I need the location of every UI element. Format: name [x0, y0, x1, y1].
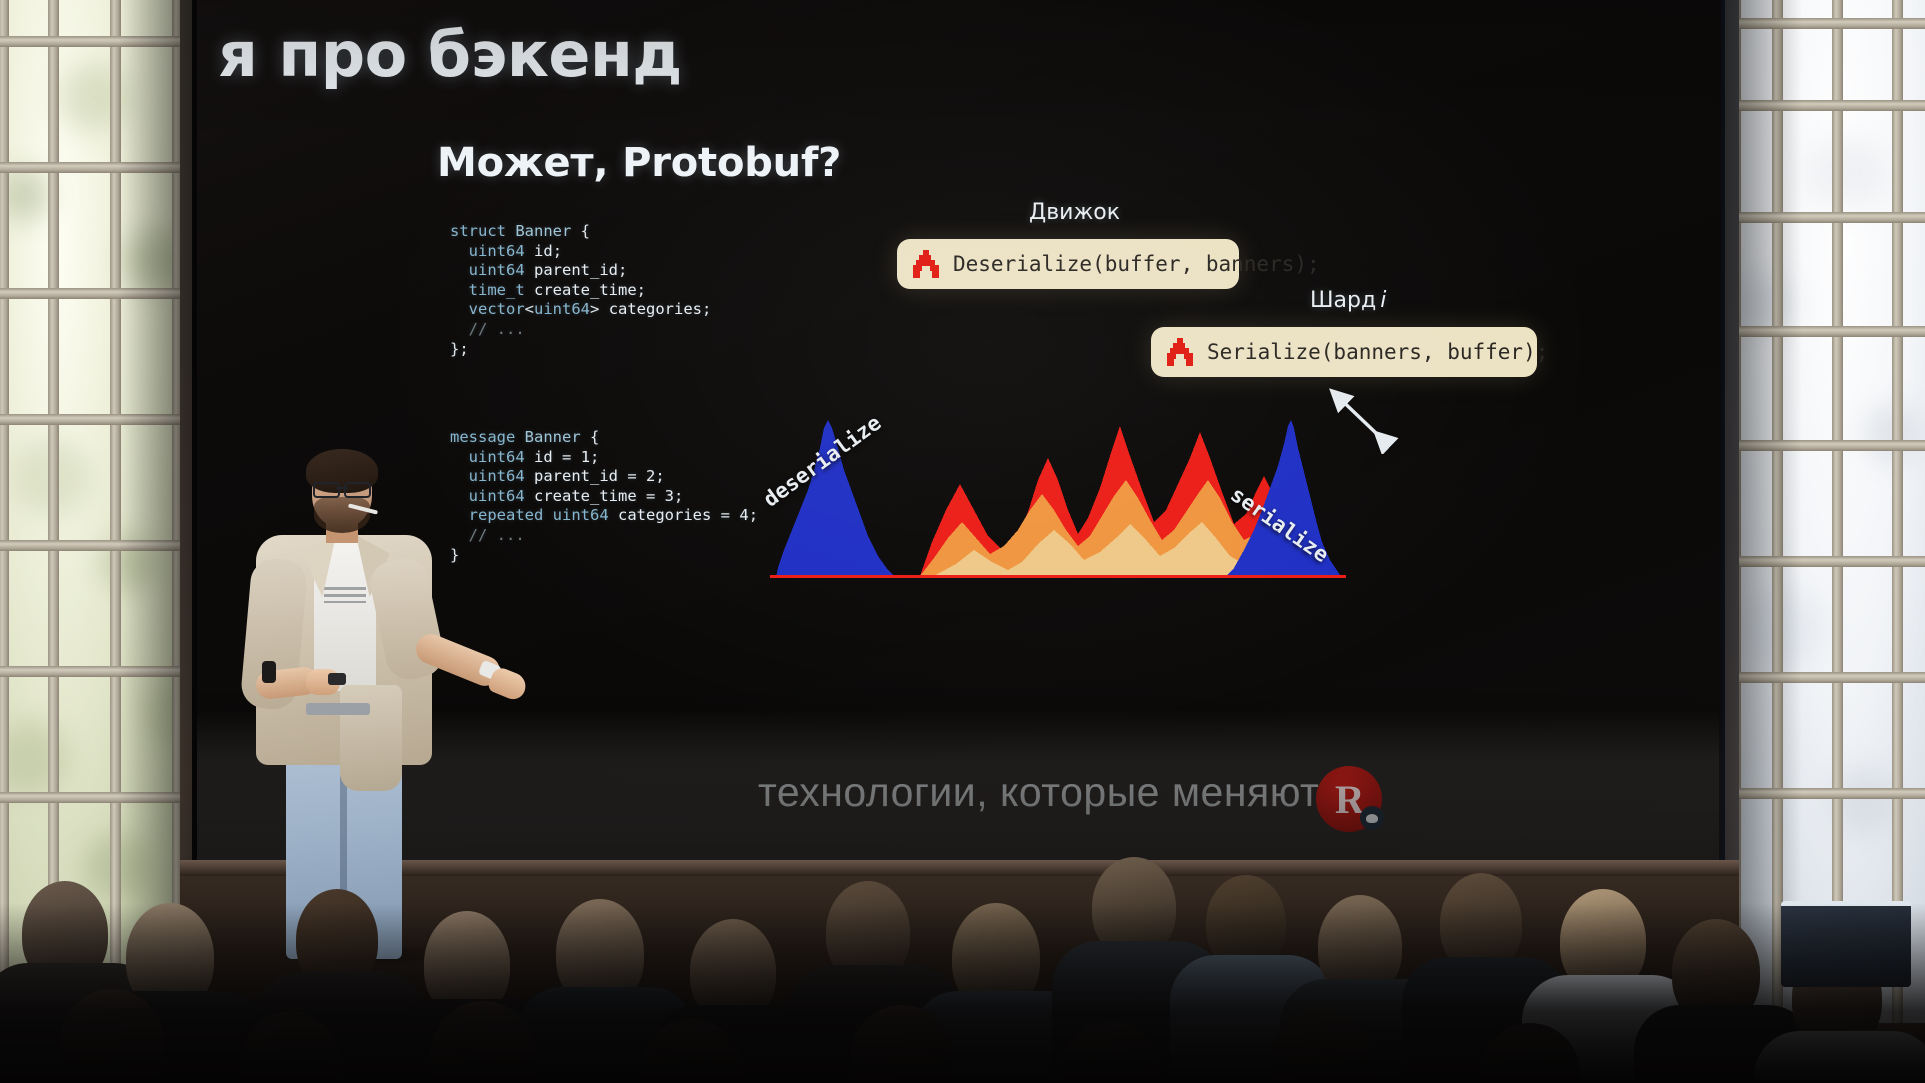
screen-edge-left	[192, 0, 197, 860]
callout-label-shard-text: Шард	[1310, 288, 1376, 313]
audience-foreground-shadow	[0, 903, 1925, 1083]
speaker-glasses	[313, 482, 371, 494]
speaker-belt	[306, 703, 370, 715]
callout-label-engine: Движок	[1029, 200, 1120, 225]
flame-baseline	[770, 575, 1346, 578]
speaker-beard	[314, 497, 370, 533]
speaker-wristband	[262, 661, 276, 683]
callout-deserialize[interactable]: Deserialize(buffer, banners);	[897, 239, 1239, 289]
flame-icon	[913, 250, 939, 278]
callout-label-shard: Шардi	[1310, 288, 1386, 313]
callout-code-deserialize: Deserialize(buffer, banners);	[953, 252, 1320, 276]
callout-serialize[interactable]: Serialize(banners, buffer);	[1151, 327, 1537, 377]
code-block-cpp-struct: struct Banner { uint64 id; uint64 parent…	[450, 222, 711, 359]
screen-edge-right	[1719, 0, 1725, 860]
flame-icon	[1167, 338, 1193, 366]
speaker-tshirt-print	[324, 587, 366, 603]
slide-title: я про бэкенд	[218, 18, 682, 91]
callout-label-shard-index: i	[1380, 288, 1386, 313]
audience	[0, 753, 1925, 1083]
slide-heading: Может, Protobuf?	[437, 140, 841, 186]
conference-photo: я про бэкенд Может, Protobuf? struct Ban…	[0, 0, 1925, 1083]
flamegraph-chart: deserialize serialize	[770, 418, 1346, 578]
speaker-presentation-clicker	[328, 673, 346, 685]
callout-code-serialize: Serialize(banners, buffer);	[1207, 340, 1548, 364]
